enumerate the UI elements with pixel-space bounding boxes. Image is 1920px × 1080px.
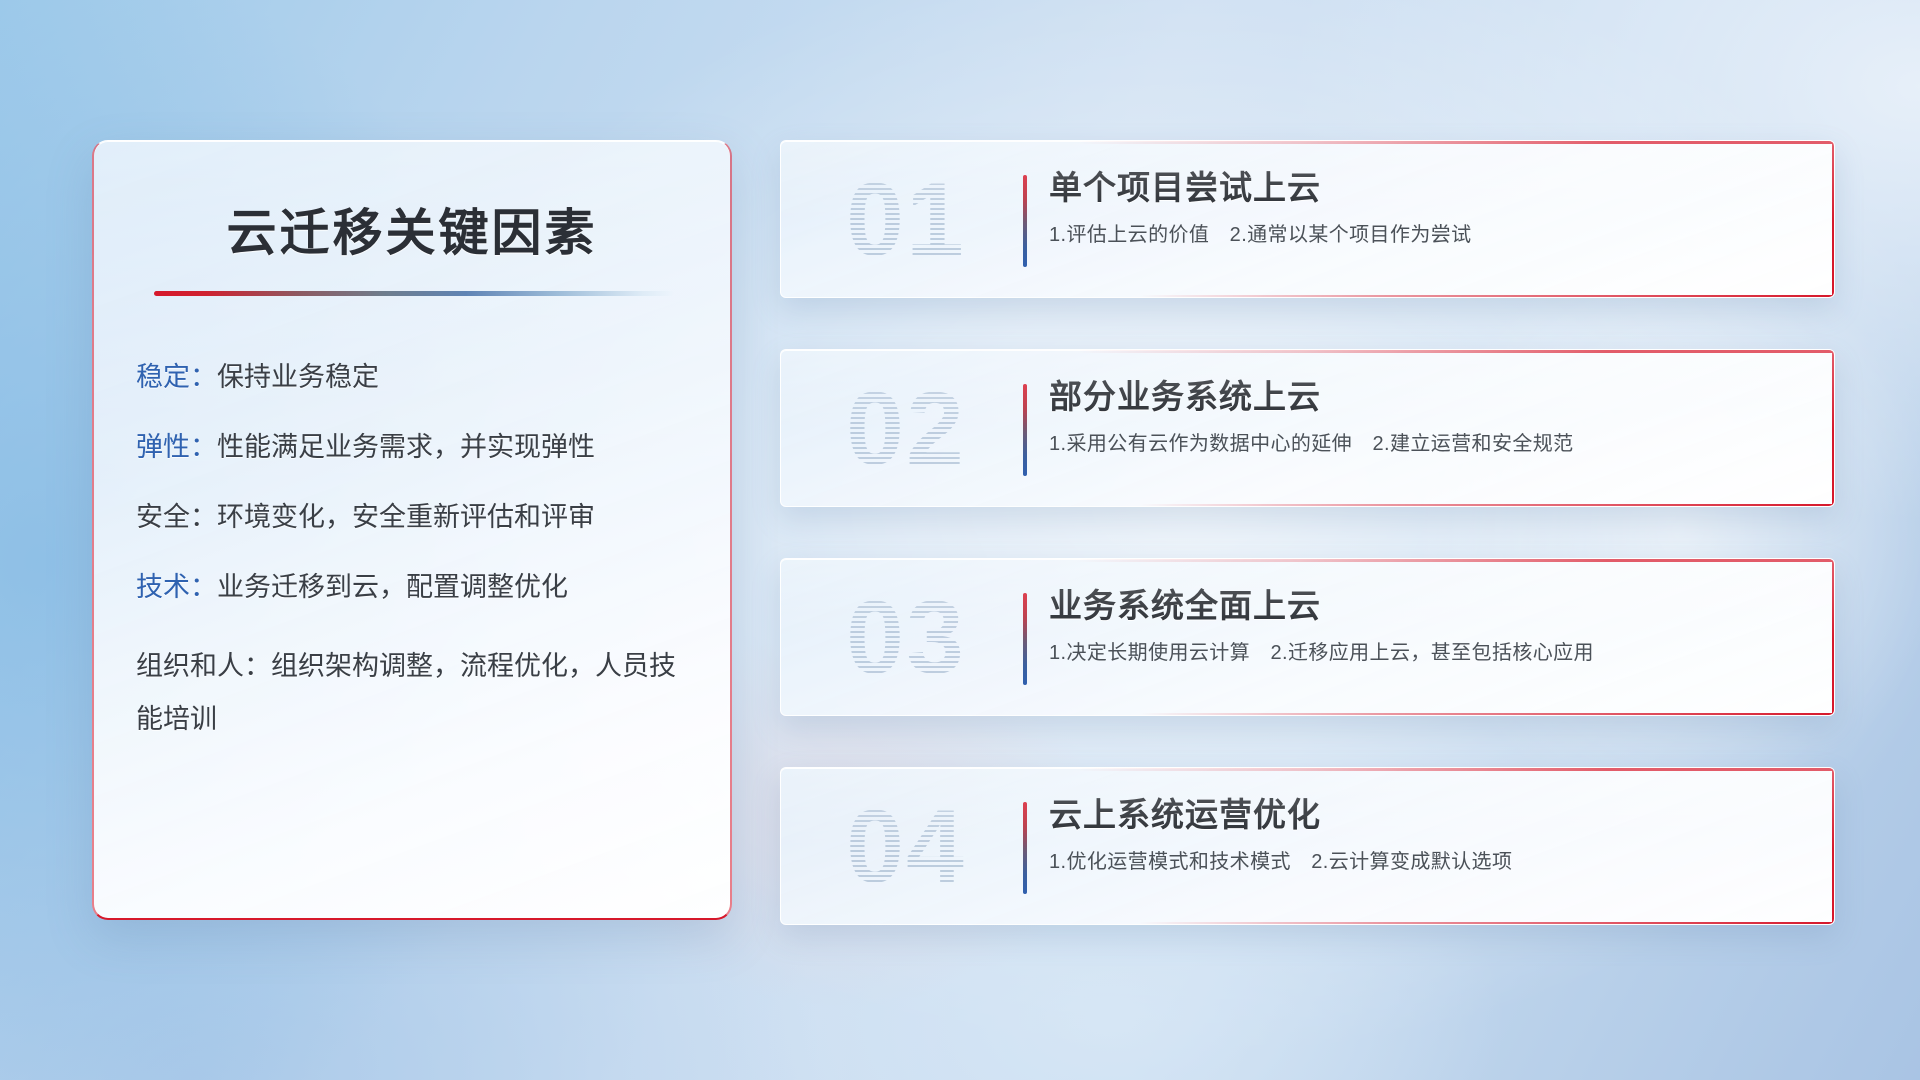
card-divider-bar <box>1023 802 1027 894</box>
stage-card-02[interactable]: 02 部分业务系统上云 1.采用公有云作为数据中心的延伸 2.建立运营和安全规范 <box>780 349 1835 507</box>
list-item: 安全：环境变化，安全重新评估和评审 <box>136 500 696 535</box>
card-accent-right <box>1832 768 1835 924</box>
card-accent-bottom <box>1139 295 1834 298</box>
stage-number: 04 <box>811 782 1001 912</box>
stage-title: 云上系统运营优化 <box>1049 794 1794 835</box>
migration-stages-list: 01 单个项目尝试上云 1.评估上云的价值 2.通常以某个项目作为尝试 02 部… <box>780 140 1835 976</box>
factor-key: 安全： <box>136 502 217 532</box>
card-accent-bottom <box>1139 504 1834 507</box>
card-accent-right <box>1832 559 1835 715</box>
factor-key: 弹性： <box>136 432 217 462</box>
key-factors-panel: 云迁移关键因素 稳定：保持业务稳定 弹性：性能满足业务需求，并实现弹性 安全：环… <box>92 140 732 920</box>
stage-card-03[interactable]: 03 业务系统全面上云 1.决定长期使用云计算 2.迁移应用上云，甚至包括核心应… <box>780 558 1835 716</box>
slide-stage: 云迁移关键因素 稳定：保持业务稳定 弹性：性能满足业务需求，并实现弹性 安全：环… <box>0 0 1920 1080</box>
factor-value: 性能满足业务需求，并实现弹性 <box>217 432 595 462</box>
list-item: 组织和人：组织架构调整，流程优化，人员技能培训 <box>136 640 696 745</box>
key-factors-list: 稳定：保持业务稳定 弹性：性能满足业务需求，并实现弹性 安全：环境变化，安全重新… <box>136 360 696 746</box>
list-item: 技术：业务迁移到云，配置调整优化 <box>136 570 696 605</box>
page-title: 云迁移关键因素 <box>94 193 730 265</box>
factor-key: 组织和人： <box>136 651 271 681</box>
card-body: 云上系统运营优化 1.优化运营模式和技术模式 2.云计算变成默认选项 <box>1049 794 1794 875</box>
stage-title: 业务系统全面上云 <box>1049 585 1794 626</box>
stage-card-01[interactable]: 01 单个项目尝试上云 1.评估上云的价值 2.通常以某个项目作为尝试 <box>780 140 1835 298</box>
list-item: 稳定：保持业务稳定 <box>136 360 696 395</box>
stage-subtitle: 1.评估上云的价值 2.通常以某个项目作为尝试 <box>1049 222 1794 248</box>
stage-subtitle: 1.优化运营模式和技术模式 2.云计算变成默认选项 <box>1049 849 1794 875</box>
card-accent-bottom <box>1139 713 1834 716</box>
stage-subtitle: 1.决定长期使用云计算 2.迁移应用上云，甚至包括核心应用 <box>1049 640 1794 666</box>
stage-number: 02 <box>811 364 1001 494</box>
card-accent-top <box>1076 350 1834 353</box>
stage-number: 03 <box>811 573 1001 703</box>
stage-number: 01 <box>811 155 1001 285</box>
card-accent-right <box>1832 350 1835 506</box>
card-accent-top <box>1076 559 1834 562</box>
factor-value: 环境变化，安全重新评估和评审 <box>217 502 595 532</box>
card-body: 部分业务系统上云 1.采用公有云作为数据中心的延伸 2.建立运营和安全规范 <box>1049 376 1794 457</box>
list-item: 弹性：性能满足业务需求，并实现弹性 <box>136 430 696 465</box>
factor-key: 稳定： <box>136 362 217 392</box>
stage-subtitle: 1.采用公有云作为数据中心的延伸 2.建立运营和安全规范 <box>1049 431 1794 457</box>
factor-value: 业务迁移到云，配置调整优化 <box>217 572 568 602</box>
stage-title: 单个项目尝试上云 <box>1049 167 1794 208</box>
card-accent-top <box>1076 768 1834 771</box>
card-divider-bar <box>1023 175 1027 267</box>
title-underline-rule <box>154 291 674 296</box>
factor-value: 保持业务稳定 <box>217 362 379 392</box>
card-body: 业务系统全面上云 1.决定长期使用云计算 2.迁移应用上云，甚至包括核心应用 <box>1049 585 1794 666</box>
card-accent-bottom <box>1139 922 1834 925</box>
card-divider-bar <box>1023 593 1027 685</box>
card-accent-right <box>1832 141 1835 297</box>
stage-card-04[interactable]: 04 云上系统运营优化 1.优化运营模式和技术模式 2.云计算变成默认选项 <box>780 767 1835 925</box>
factor-key: 技术： <box>136 572 217 602</box>
card-accent-top <box>1076 141 1834 144</box>
card-divider-bar <box>1023 384 1027 476</box>
stage-title: 部分业务系统上云 <box>1049 376 1794 417</box>
card-body: 单个项目尝试上云 1.评估上云的价值 2.通常以某个项目作为尝试 <box>1049 167 1794 248</box>
